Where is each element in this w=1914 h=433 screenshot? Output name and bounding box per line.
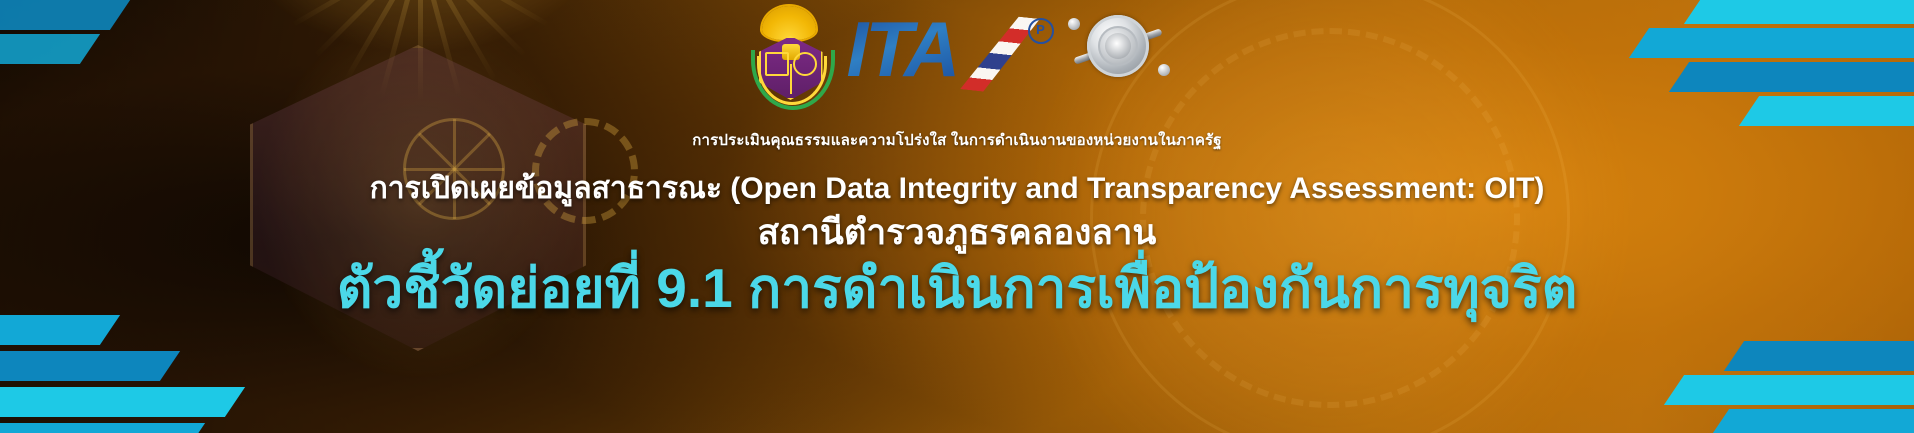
thai-flag-ribbon-icon <box>960 13 1040 94</box>
page-title-line1: การเปิดเผยข้อมูลสาธารณะ (Open Data Integ… <box>0 169 1914 209</box>
ita-logo: ITA P <box>847 6 1052 98</box>
police-staff-knob-bottom <box>1158 64 1170 76</box>
indicator-title: ตัวชี้วัดย่อยที่ 9.1 การดำเนินการเพื่อป้… <box>0 255 1914 321</box>
registered-mark-icon: P <box>1028 18 1054 44</box>
ita-wordmark: ITA <box>847 10 958 88</box>
organization-name: สถานีตำรวจภูธรคลองลาน <box>0 209 1914 257</box>
title-block: การประเมินคุณธรรมและความโปร่งใส ในการดำเ… <box>0 128 1914 321</box>
nacc-emblem-icon <box>745 6 833 110</box>
police-disc-icon <box>1087 15 1149 77</box>
royal-thai-police-emblem-icon <box>1066 6 1170 86</box>
police-staff-knob-top <box>1068 18 1080 30</box>
ita-banner: ITA P การประเมินคุณธรรมและความโปร่งใส ใน… <box>0 0 1914 433</box>
logo-row: ITA P <box>0 6 1914 110</box>
ita-subtitle-thai: การประเมินคุณธรรมและความโปร่งใส ในการดำเ… <box>0 128 1914 152</box>
